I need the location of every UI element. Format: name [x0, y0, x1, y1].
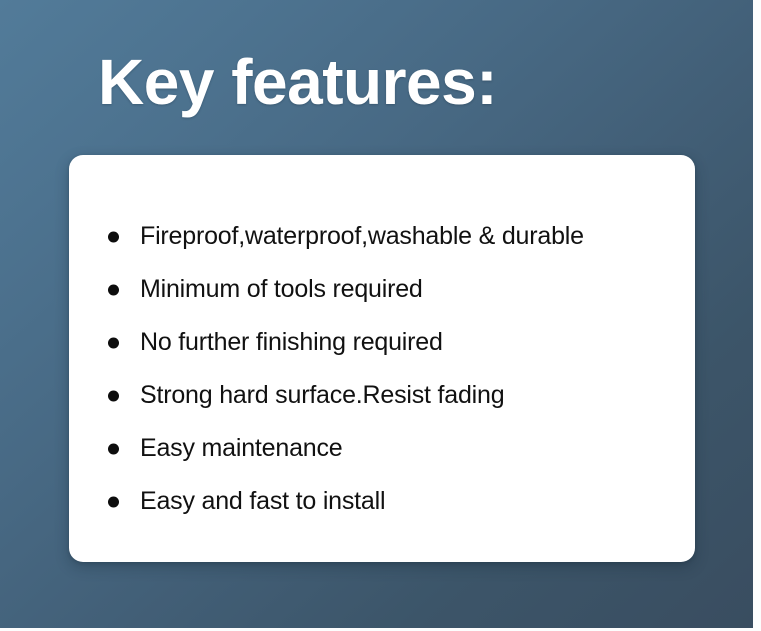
features-card: Fireproof,waterproof,washable & durable …	[69, 155, 695, 562]
list-item: Easy maintenance	[108, 422, 675, 475]
list-item-label: Easy maintenance	[140, 435, 342, 463]
list-item-label: No further finishing required	[140, 329, 443, 357]
bullet-icon	[108, 496, 119, 507]
bullet-icon	[108, 284, 119, 295]
list-item: Minimum of tools required	[108, 263, 675, 316]
list-item: Fireproof,waterproof,washable & durable	[108, 210, 675, 263]
bullet-icon	[108, 443, 119, 454]
features-list: Fireproof,waterproof,washable & durable …	[108, 210, 675, 528]
bullet-icon	[108, 337, 119, 348]
page-title: Key features:	[98, 48, 497, 117]
slide: Key features: Fireproof,waterproof,washa…	[0, 0, 761, 631]
bullet-icon	[108, 390, 119, 401]
slide-edge-right	[753, 0, 761, 631]
list-item: Easy and fast to install	[108, 475, 675, 528]
list-item: No further finishing required	[108, 316, 675, 369]
list-item-label: Minimum of tools required	[140, 276, 423, 304]
bullet-icon	[108, 231, 119, 242]
list-item: Strong hard surface.Resist fading	[108, 369, 675, 422]
list-item-label: Easy and fast to install	[140, 488, 385, 516]
list-item-label: Fireproof,waterproof,washable & durable	[140, 223, 584, 251]
list-item-label: Strong hard surface.Resist fading	[140, 382, 504, 410]
